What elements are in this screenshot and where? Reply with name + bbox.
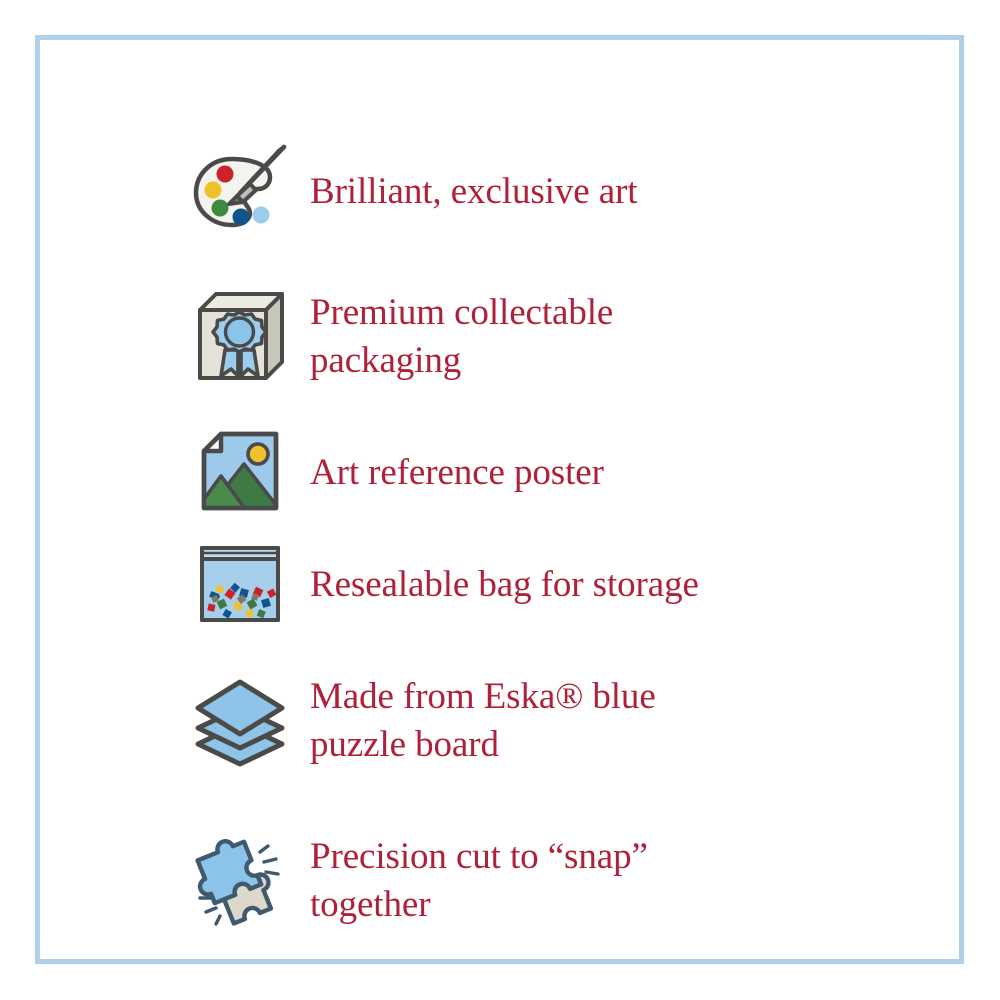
feature-label-line: Art reference poster <box>310 449 930 497</box>
feature-item-art-reference-poster: Art reference poster <box>170 416 930 528</box>
feature-label-line: Made from Eska® blue <box>310 673 930 721</box>
award-box-icon <box>170 284 310 388</box>
feature-label: Precision cut to “snap” together <box>310 831 930 929</box>
feature-label-line: puzzle board <box>310 721 930 769</box>
feature-label: Premium collectable packaging <box>310 287 930 385</box>
puzzle-pieces-snap-icon <box>170 826 310 934</box>
feature-list: Brilliant, exclusive art <box>170 126 930 960</box>
feature-card-canvas: Brilliant, exclusive art <box>0 0 1000 1000</box>
feature-item-resealable-bag-for-storage: Resealable bag for storage <box>170 528 930 640</box>
feature-label-line: Brilliant, exclusive art <box>310 168 930 216</box>
feature-label-line: Resealable bag for storage <box>310 561 930 609</box>
feature-label: Art reference poster <box>310 447 930 497</box>
poster-image-icon <box>170 420 310 524</box>
feature-label-line: together <box>310 881 930 929</box>
card-frame: Brilliant, exclusive art <box>35 35 964 964</box>
feature-label: Brilliant, exclusive art <box>310 166 930 216</box>
feature-label-line: Premium collectable <box>310 289 930 337</box>
feature-item-premium-collectable-packaging: Premium collectable packaging <box>170 256 930 416</box>
resealable-bag-icon <box>170 532 310 636</box>
paint-palette-icon <box>170 139 310 243</box>
feature-label-line: Precision cut to “snap” <box>310 833 930 881</box>
feature-item-made-from-eska-blue-puzzle-board: Made from Eska® blue puzzle board <box>170 640 930 800</box>
feature-item-precision-cut-to-snap-together: Precision cut to “snap” together <box>170 800 930 960</box>
feature-label: Resealable bag for storage <box>310 559 930 609</box>
feature-label: Made from Eska® blue puzzle board <box>310 671 930 769</box>
board-layers-icon <box>170 668 310 772</box>
feature-label-line: packaging <box>310 337 930 385</box>
feature-item-brilliant-exclusive-art: Brilliant, exclusive art <box>170 126 930 256</box>
